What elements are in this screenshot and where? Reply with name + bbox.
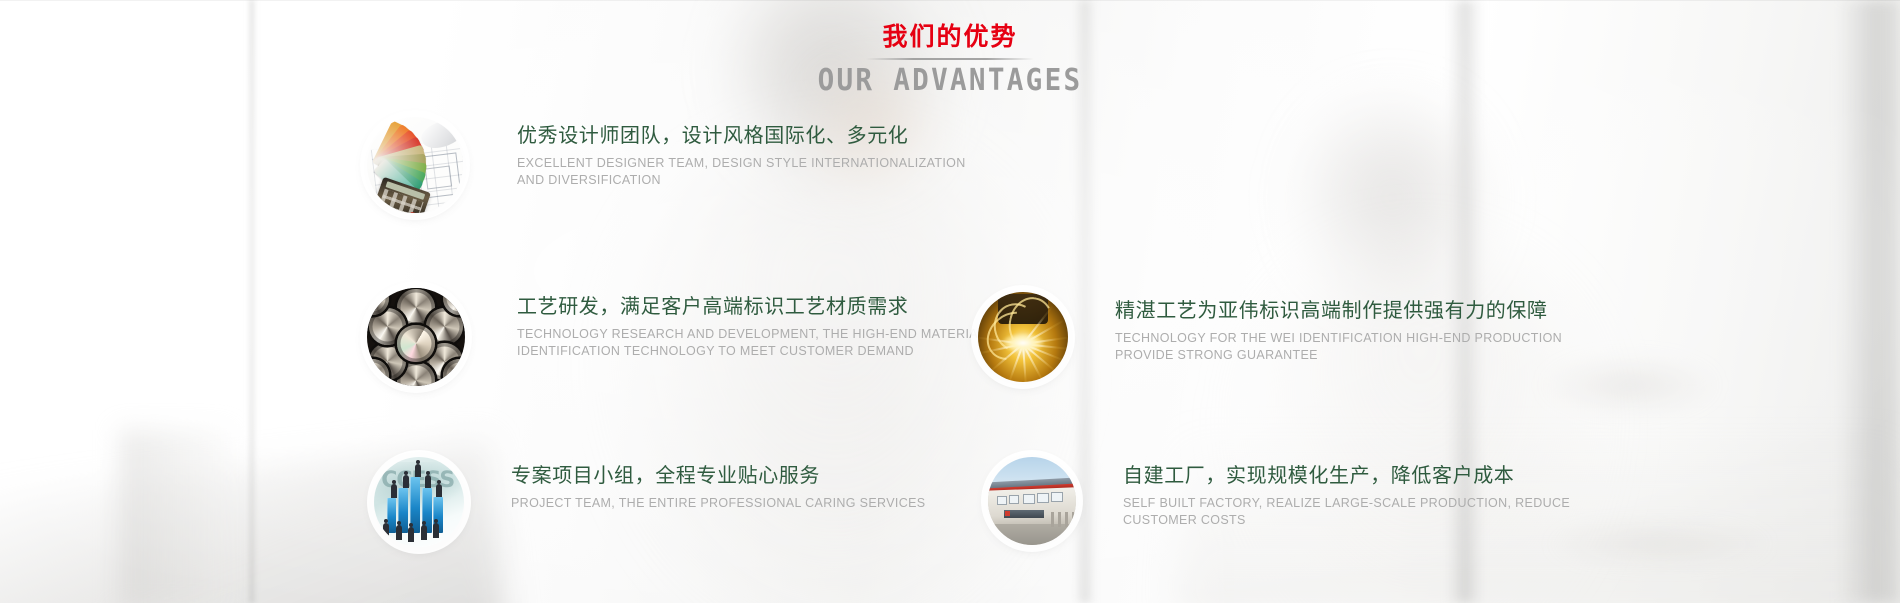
feature-text-project-team: 专案项目小组，全程专业贴心服务 PROJECT TEAM, THE ENTIRE… [511, 457, 925, 512]
feature-heading: 工艺研发，满足客户高端标识工艺材质需求 [517, 294, 985, 319]
welding-sparks-icon [978, 292, 1068, 382]
feature-heading: 优秀设计师团队，设计风格国际化、多元化 [517, 123, 966, 148]
feature-caption: TECHNOLOGY FOR THE WEI IDENTIFICATION HI… [1115, 330, 1562, 365]
feature-item-project-team[interactable]: CCESS 专案项目小组，全程专业贴心服务 PROJECT TEAM, [374, 457, 925, 547]
top-divider [0, 0, 1900, 1]
feature-text-technology-rnd: 工艺研发，满足客户高端标识工艺材质需求 TECHNOLOGY RESEARCH … [517, 288, 985, 361]
feature-caption: TECHNOLOGY RESEARCH AND DEVELOPMENT, THE… [517, 326, 985, 361]
feature-heading: 自建工厂，实现规模化生产，降低客户成本 [1123, 463, 1570, 488]
feature-heading: 专案项目小组，全程专业贴心服务 [511, 463, 925, 488]
feature-text-own-factory: 自建工厂，实现规模化生产，降低客户成本 SELF BUILT FACTORY, … [1123, 457, 1570, 530]
person-head-right [1300, 95, 1485, 300]
background-blur-shape [1540, 355, 1720, 415]
feature-item-technology-rnd[interactable]: 工艺研发，满足客户高端标识工艺材质需求 TECHNOLOGY RESEARCH … [367, 288, 985, 386]
feature-item-designer-team[interactable]: 优秀设计师团队，设计风格国际化、多元化 EXCELLENT DESIGNER T… [367, 117, 966, 213]
page-subtitle: OUR ADVANTAGES [76, 63, 1824, 98]
advantages-banner: 我们的优势 OUR ADVANTAGES [0, 0, 1900, 603]
background-blur-shape-2 [1545, 520, 1775, 568]
section-header: 我们的优势 OUR ADVANTAGES [0, 22, 1900, 98]
feature-heading: 精湛工艺为亚伟标识高端制作提供强有力的保障 [1115, 298, 1562, 323]
business-growth-chart-icon: CCESS [374, 457, 464, 547]
feature-text-craftsmanship-guarantee: 精湛工艺为亚伟标识高端制作提供强有力的保障 TECHNOLOGY FOR THE… [1115, 292, 1562, 365]
metal-pipes-icon [367, 288, 465, 386]
factory-building-icon [988, 457, 1076, 545]
feature-item-own-factory[interactable]: 自建工厂，实现规模化生产，降低客户成本 SELF BUILT FACTORY, … [988, 457, 1570, 545]
monitor-blur [120, 430, 230, 603]
feature-caption: EXCELLENT DESIGNER TEAM, DESIGN STYLE IN… [517, 155, 966, 190]
color-swatch-fan-icon [367, 117, 463, 213]
feature-caption: PROJECT TEAM, THE ENTIRE PROFESSIONAL CA… [511, 495, 925, 512]
page-title: 我们的优势 [0, 22, 1900, 52]
title-divider [866, 58, 1034, 60]
feature-text-designer-team: 优秀设计师团队，设计风格国际化、多元化 EXCELLENT DESIGNER T… [517, 117, 966, 190]
feature-caption: SELF BUILT FACTORY, REALIZE LARGE-SCALE … [1123, 495, 1570, 530]
feature-item-craftsmanship-guarantee[interactable]: 精湛工艺为亚伟标识高端制作提供强有力的保障 TECHNOLOGY FOR THE… [978, 292, 1562, 382]
